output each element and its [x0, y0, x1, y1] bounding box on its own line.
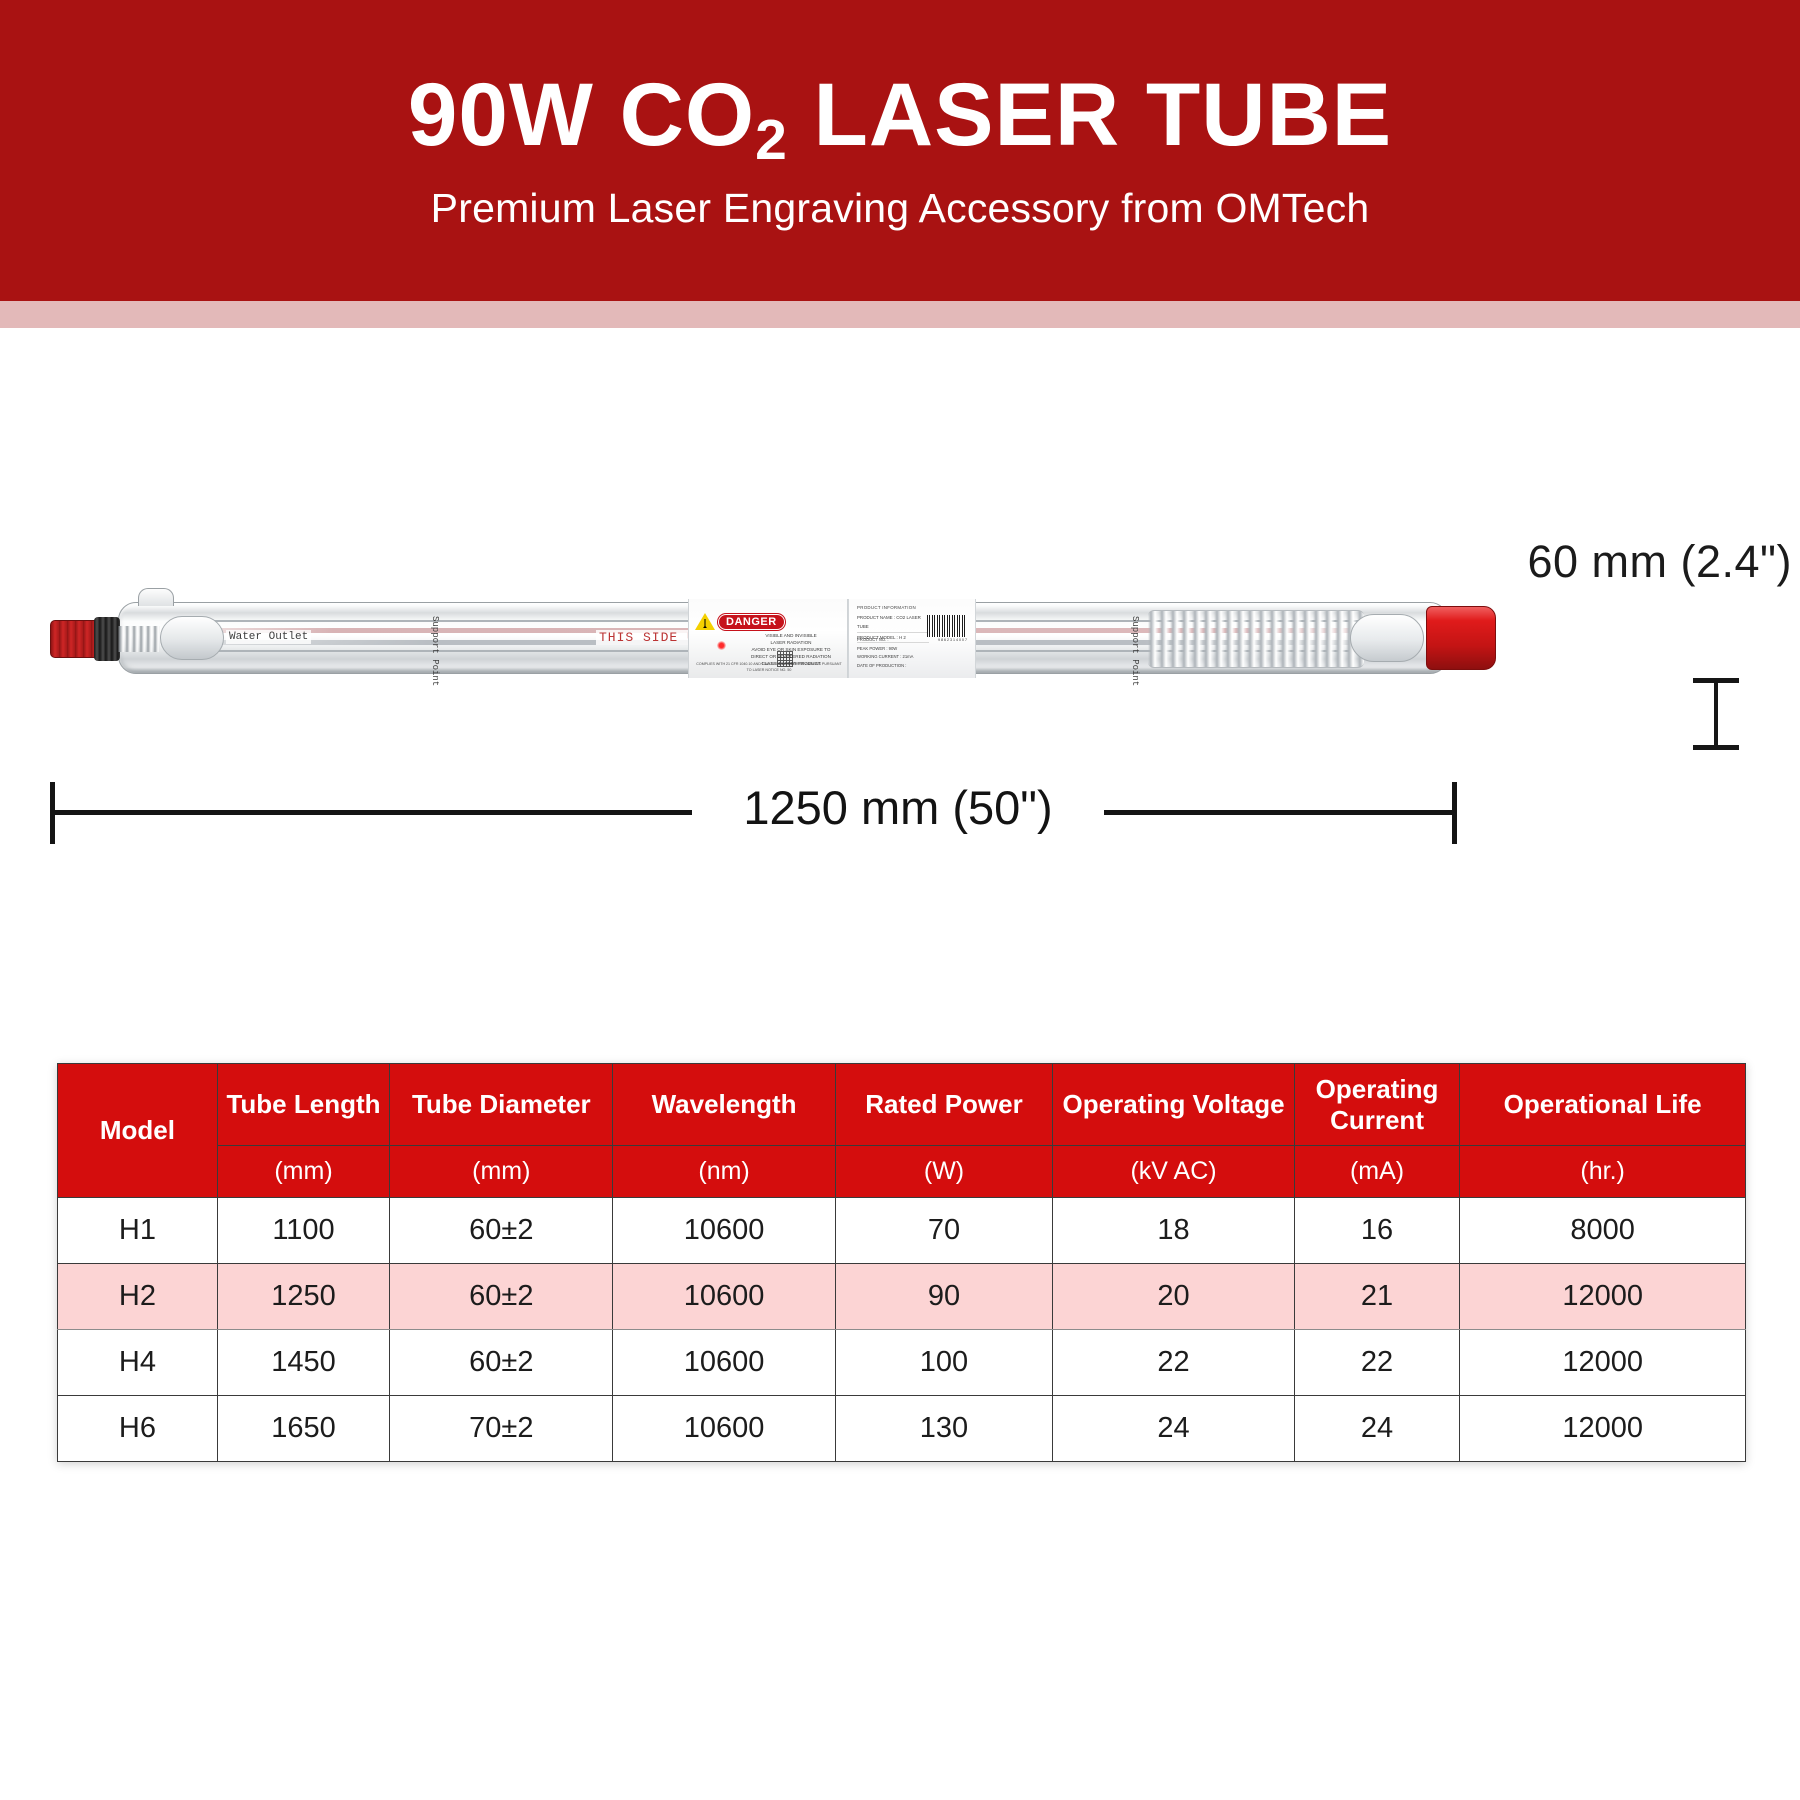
cell-rated-power: 130 — [835, 1396, 1053, 1462]
table-unit-rated-power: (W) — [835, 1146, 1053, 1198]
table-row: H6 1650 70±2 10600 130 24 24 12000 — [58, 1396, 1746, 1462]
table-body: H1 1100 60±2 10600 70 18 16 8000 H2 1250… — [58, 1198, 1746, 1462]
cell-tube-diameter: 60±2 — [390, 1198, 613, 1264]
table-row-highlighted: H2 1250 60±2 10600 90 20 21 12000 — [58, 1264, 1746, 1330]
table-header-operational-life: Operational Life — [1460, 1064, 1746, 1146]
compliance-fineprint: COMPLIES WITH 21 CFR 1040.10 AND 1040.11… — [695, 662, 843, 673]
glass-fill-nipple — [138, 588, 174, 606]
barcode-icon — [927, 615, 967, 637]
cell-operational-life: 12000 — [1460, 1264, 1746, 1330]
support-point-label-left: Support Point — [430, 616, 440, 686]
product-info-label: PRODUCT INFORMATION PRODUCT NAME : CO2 L… — [848, 599, 976, 678]
cell-model: H1 — [58, 1198, 218, 1264]
product-info-row-6: DATE OF PRODUCTION : — [857, 662, 967, 670]
height-dimension-tick-bottom — [1693, 745, 1739, 750]
product-info-row-5: WORKING CURRENT : 21mA — [857, 653, 967, 661]
table-unit-tube-diameter: (mm) — [390, 1146, 613, 1198]
cell-tube-length: 1250 — [217, 1264, 389, 1330]
specification-table: Model Tube Length Tube Diameter Waveleng… — [57, 1063, 1746, 1462]
length-dimension-tick-right — [1452, 782, 1457, 844]
specification-table-container: Model Tube Length Tube Diameter Waveleng… — [57, 1063, 1746, 1462]
table-header-row-names: Model Tube Length Tube Diameter Waveleng… — [58, 1064, 1746, 1146]
table-row: H4 1450 60±2 10600 100 22 22 12000 — [58, 1330, 1746, 1396]
cooling-coil-section — [1148, 610, 1364, 668]
length-dimension-line-left — [52, 810, 692, 815]
cell-wavelength: 10600 — [613, 1330, 835, 1396]
table-header-model: Model — [58, 1064, 218, 1198]
cell-tube-diameter: 60±2 — [390, 1264, 613, 1330]
cell-tube-length: 1450 — [217, 1330, 389, 1396]
table-unit-tube-length: (mm) — [217, 1146, 389, 1198]
cell-operating-voltage: 18 — [1053, 1198, 1294, 1264]
product-diagram: 60 mm (2.4") Water Outlet Support Point … — [0, 328, 1800, 948]
danger-row: DANGER — [695, 613, 785, 630]
table-header-tube-diameter: Tube Diameter — [390, 1064, 613, 1146]
support-point-label-right: Support Point — [1130, 616, 1140, 686]
cell-tube-diameter: 60±2 — [390, 1330, 613, 1396]
table-header: Model Tube Length Tube Diameter Waveleng… — [58, 1064, 1746, 1198]
page-subtitle: Premium Laser Engraving Accessory from O… — [431, 185, 1370, 232]
page-title: 90W CO2 LASER TUBE — [408, 70, 1392, 159]
height-dimension-label: 60 mm (2.4") — [1527, 536, 1792, 588]
table-header-tube-length: Tube Length — [217, 1064, 389, 1146]
cell-tube-diameter: 70±2 — [390, 1396, 613, 1462]
cell-operating-voltage: 20 — [1053, 1264, 1294, 1330]
cell-operational-life: 12000 — [1460, 1396, 1746, 1462]
cell-rated-power: 90 — [835, 1264, 1053, 1330]
cell-wavelength: 10600 — [613, 1264, 835, 1330]
danger-line-2: LASER RADIATION — [741, 639, 841, 646]
cell-operating-voltage: 22 — [1053, 1330, 1294, 1396]
laser-warning-label: DANGER VISIBLE AND INVISIBLE LASER RADIA… — [688, 599, 848, 678]
product-info-row-3: PRODUCT NO. : — [857, 636, 967, 644]
table-unit-operating-current: (mA) — [1294, 1146, 1460, 1198]
left-electrode-ring — [94, 617, 120, 661]
laser-tube-illustration: Water Outlet Support Point Support Point… — [40, 584, 1480, 694]
height-dimension-line — [1714, 681, 1718, 747]
danger-badge: DANGER — [718, 614, 785, 630]
page-title-subscript: 2 — [755, 108, 788, 172]
table-header-operating-current: Operating Current — [1294, 1064, 1460, 1146]
laser-radiation-triangle-icon — [695, 613, 715, 630]
table-unit-wavelength: (nm) — [613, 1146, 835, 1198]
right-end-cap — [1426, 606, 1496, 670]
table-unit-operating-voltage: (kV AC) — [1053, 1146, 1294, 1198]
left-end-cap — [50, 620, 98, 658]
product-info-row-1: PRODUCT NAME : CO2 LASER TUBE — [857, 613, 929, 633]
cell-tube-length: 1100 — [217, 1198, 389, 1264]
cell-operating-voltage: 24 — [1053, 1396, 1294, 1462]
cell-operating-current: 16 — [1294, 1198, 1460, 1264]
table-header-rated-power: Rated Power — [835, 1064, 1053, 1146]
length-dimension-label: 1250 mm (50") — [692, 780, 1104, 835]
page-title-pre: 90W CO — [408, 64, 755, 164]
left-electrode-bulb — [160, 616, 224, 660]
header-banner: 90W CO2 LASER TUBE Premium Laser Engravi… — [0, 0, 1800, 301]
product-info-title: PRODUCT INFORMATION — [857, 605, 916, 610]
product-info-rows-secondary: PRODUCT NO. : PEAK POWER : 90W WORKING C… — [857, 636, 967, 670]
laser-beam-icon — [717, 641, 726, 650]
product-info-row-4: PEAK POWER : 90W — [857, 645, 967, 653]
cell-operational-life: 8000 — [1460, 1198, 1746, 1264]
water-outlet-label: Water Outlet — [226, 630, 311, 644]
table-header-row-units: (mm) (mm) (nm) (W) (kV AC) (mA) (hr.) — [58, 1146, 1746, 1198]
cell-operational-life: 12000 — [1460, 1330, 1746, 1396]
table-header-operating-voltage: Operating Voltage — [1053, 1064, 1294, 1146]
table-header-wavelength: Wavelength — [613, 1064, 835, 1146]
page-title-post: LASER TUBE — [788, 64, 1392, 164]
danger-line-1: VISIBLE AND INVISIBLE — [741, 632, 841, 639]
cell-wavelength: 10600 — [613, 1396, 835, 1462]
height-dimension-tick-top — [1693, 678, 1739, 683]
cell-rated-power: 70 — [835, 1198, 1053, 1264]
cell-model: H2 — [58, 1264, 218, 1330]
cell-rated-power: 100 — [835, 1330, 1053, 1396]
cell-tube-length: 1650 — [217, 1396, 389, 1462]
banner-accent-strip — [0, 301, 1800, 328]
cell-model: H6 — [58, 1396, 218, 1462]
cell-operating-current: 22 — [1294, 1330, 1460, 1396]
cell-operating-current: 24 — [1294, 1396, 1460, 1462]
cell-wavelength: 10600 — [613, 1198, 835, 1264]
table-row: H1 1100 60±2 10600 70 18 16 8000 — [58, 1198, 1746, 1264]
length-dimension-line-right — [1104, 810, 1454, 815]
cell-model: H4 — [58, 1330, 218, 1396]
cell-operating-current: 21 — [1294, 1264, 1460, 1330]
left-electrode-spring — [118, 626, 160, 652]
right-electrode-bulb — [1350, 614, 1424, 662]
table-unit-operational-life: (hr.) — [1460, 1146, 1746, 1198]
